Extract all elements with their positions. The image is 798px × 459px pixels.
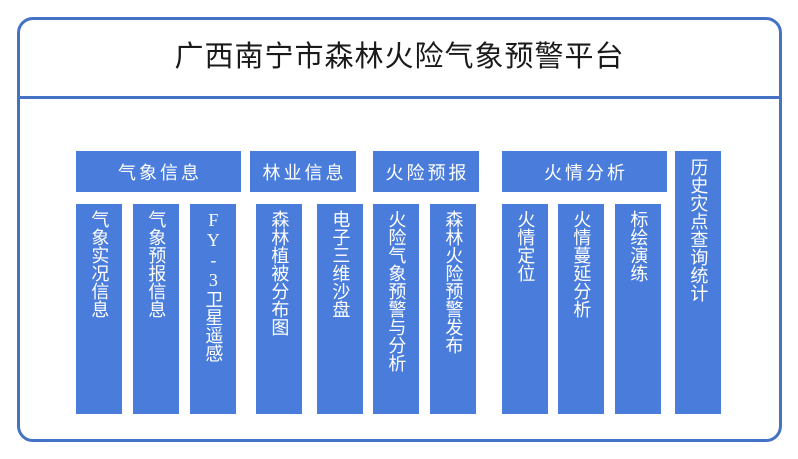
- module-label: 森林火险预警发布: [444, 210, 463, 354]
- module-label: 森林植被分布图: [270, 210, 289, 336]
- module-fy3-satellite-remote-sensing[interactable]: FY-3卫星遥感: [190, 204, 236, 414]
- module-historical-disaster-point-query-statistics[interactable]: 历史灾点查询统计: [675, 151, 721, 414]
- module-label: 火情蔓延分析: [572, 210, 591, 318]
- group-header-weather-information[interactable]: 气象信息: [76, 151, 241, 192]
- module-label: FY-3卫星遥感: [204, 210, 223, 362]
- module-label: 火情定位: [516, 210, 535, 282]
- module-label: 火险气象预警与分析: [387, 210, 406, 372]
- module-weather-live-information[interactable]: 气象实况信息: [76, 204, 122, 414]
- module-plotting-drill[interactable]: 标绘演练: [615, 204, 661, 414]
- module-fire-location[interactable]: 火情定位: [502, 204, 548, 414]
- module-label: 气象预报信息: [147, 210, 166, 318]
- module-forest-vegetation-distribution-map[interactable]: 森林植被分布图: [256, 204, 302, 414]
- diagram-title-bar: 广西南宁市森林火险气象预警平台: [20, 20, 779, 99]
- module-label: 历史灾点查询统计: [689, 158, 708, 302]
- module-fire-spread-analysis[interactable]: 火情蔓延分析: [558, 204, 604, 414]
- module-label: 标绘演练: [629, 210, 648, 282]
- module-label: 电子三维沙盘: [331, 210, 350, 318]
- module-fire-risk-weather-warning-and-analysis[interactable]: 火险气象预警与分析: [373, 204, 419, 414]
- group-header-fire-risk-forecast[interactable]: 火险预报: [373, 151, 479, 192]
- module-forest-fire-risk-warning-release[interactable]: 森林火险预警发布: [430, 204, 476, 414]
- module-label: 气象实况信息: [90, 210, 109, 318]
- diagram-content-area: 气象信息 林业信息 火险预报 火情分析 气象实况信息 气象预报信息 FY-3卫星…: [20, 102, 779, 439]
- group-header-forestry-information[interactable]: 林业信息: [250, 151, 356, 192]
- page-title: 广西南宁市森林火险气象预警平台: [174, 42, 624, 74]
- module-weather-forecast-information[interactable]: 气象预报信息: [133, 204, 179, 414]
- module-electronic-3d-sandbox[interactable]: 电子三维沙盘: [317, 204, 363, 414]
- platform-diagram-frame: 广西南宁市森林火险气象预警平台 气象信息 林业信息 火险预报 火情分析 气象实况…: [17, 17, 782, 442]
- group-header-fire-situation-analysis[interactable]: 火情分析: [502, 151, 667, 192]
